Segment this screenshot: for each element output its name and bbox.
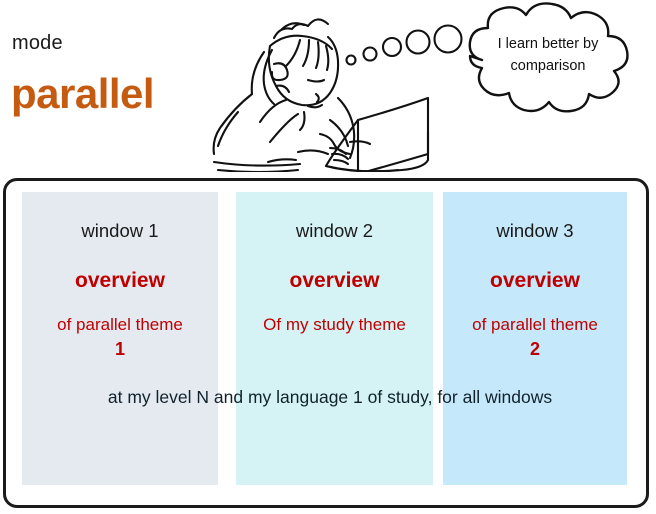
window-panel-2-title: window 2: [236, 220, 433, 242]
windows-caption: at my level N and my language 1 of study…: [60, 383, 600, 411]
window-panel-2-overview: overview: [236, 269, 433, 293]
window-panel-3-overview: overview: [443, 269, 627, 293]
window-panel-1-subtitle-text: of parallel theme: [57, 315, 183, 334]
window-panel-2-subtitle: Of my study theme: [236, 312, 433, 337]
window-panel-3-theme-number: 2: [443, 337, 627, 362]
window-panel-3[interactable]: window 3 overview of parallel theme 2: [443, 192, 627, 485]
window-panel-1-theme-number: 1: [22, 337, 218, 362]
window-panel-1-title: window 1: [22, 220, 218, 242]
header: mode parallel: [0, 0, 656, 178]
window-panel-3-subtitle: of parallel theme 2: [443, 312, 627, 362]
window-panel-1-subtitle: of parallel theme 1: [22, 312, 218, 362]
windows-panel-group: window 1 overview of parallel theme 1 wi…: [0, 192, 656, 485]
thought-bubble-text: I learn better by comparison: [470, 33, 626, 77]
window-panel-2[interactable]: window 2 overview Of my study theme: [236, 192, 433, 485]
window-panel-3-subtitle-text: of parallel theme: [472, 315, 598, 334]
window-panel-1-overview: overview: [22, 269, 218, 293]
window-panel-3-title: window 3: [443, 220, 627, 242]
window-panel-2-subtitle-text: Of my study theme: [263, 315, 406, 334]
mode-label: mode: [12, 32, 63, 54]
window-panel-1[interactable]: window 1 overview of parallel theme 1: [22, 192, 218, 485]
mode-value: parallel: [11, 70, 154, 118]
